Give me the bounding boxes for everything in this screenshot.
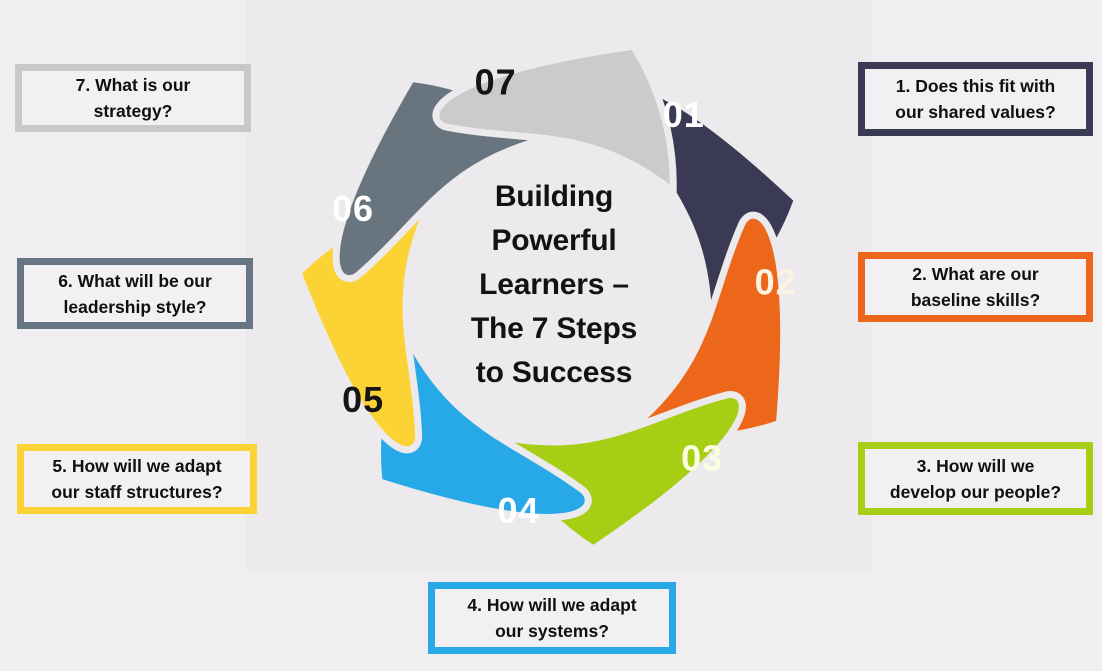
callout-6-line-1: 6. What will be our: [58, 268, 212, 294]
callout-step-7[interactable]: 7. What is our strategy?: [15, 64, 251, 132]
segment-number-05: 05: [342, 379, 384, 420]
segment-number-06: 06: [332, 188, 374, 229]
center-title-line-4: The 7 Steps: [404, 307, 704, 351]
callout-1-line-2: our shared values?: [895, 99, 1055, 125]
callout-3-line-2: develop our people?: [890, 479, 1061, 505]
callout-7-line-1: 7. What is our: [76, 72, 191, 98]
callout-2-line-2: baseline skills?: [911, 287, 1040, 313]
callout-step-5[interactable]: 5. How will we adapt our staff structure…: [17, 444, 257, 514]
callout-2-line-1: 2. What are our: [911, 261, 1040, 287]
segment-number-02: 02: [755, 261, 797, 302]
callout-step-2[interactable]: 2. What are our baseline skills?: [858, 252, 1093, 322]
center-title-line-2: Powerful: [404, 219, 704, 263]
segment-number-04: 04: [498, 490, 540, 531]
center-title-line-1: Building: [404, 175, 704, 219]
callout-3-line-1: 3. How will we: [890, 453, 1061, 479]
callout-6-line-2: leadership style?: [58, 294, 212, 320]
callout-step-4[interactable]: 4. How will we adapt our systems?: [428, 582, 676, 654]
segment-number-07: 07: [475, 61, 517, 102]
segment-number-01: 01: [663, 94, 705, 135]
callout-5-line-1: 5. How will we adapt: [51, 453, 222, 479]
callout-4-line-2: our systems?: [467, 618, 636, 644]
callout-step-1[interactable]: 1. Does this fit with our shared values?: [858, 62, 1093, 136]
callout-step-6[interactable]: 6. What will be our leadership style?: [17, 258, 253, 329]
callout-step-3[interactable]: 3. How will we develop our people?: [858, 442, 1093, 515]
callout-7-line-2: strategy?: [76, 98, 191, 124]
center-title-line-3: Learners –: [404, 263, 704, 307]
callout-1-line-1: 1. Does this fit with: [895, 73, 1055, 99]
segment-number-03: 03: [681, 437, 723, 478]
callout-5-line-2: our staff structures?: [51, 479, 222, 505]
callout-4-line-1: 4. How will we adapt: [467, 592, 636, 618]
center-title-line-5: to Success: [404, 351, 704, 395]
diagram-center-title: Building Powerful Learners – The 7 Steps…: [404, 175, 704, 395]
